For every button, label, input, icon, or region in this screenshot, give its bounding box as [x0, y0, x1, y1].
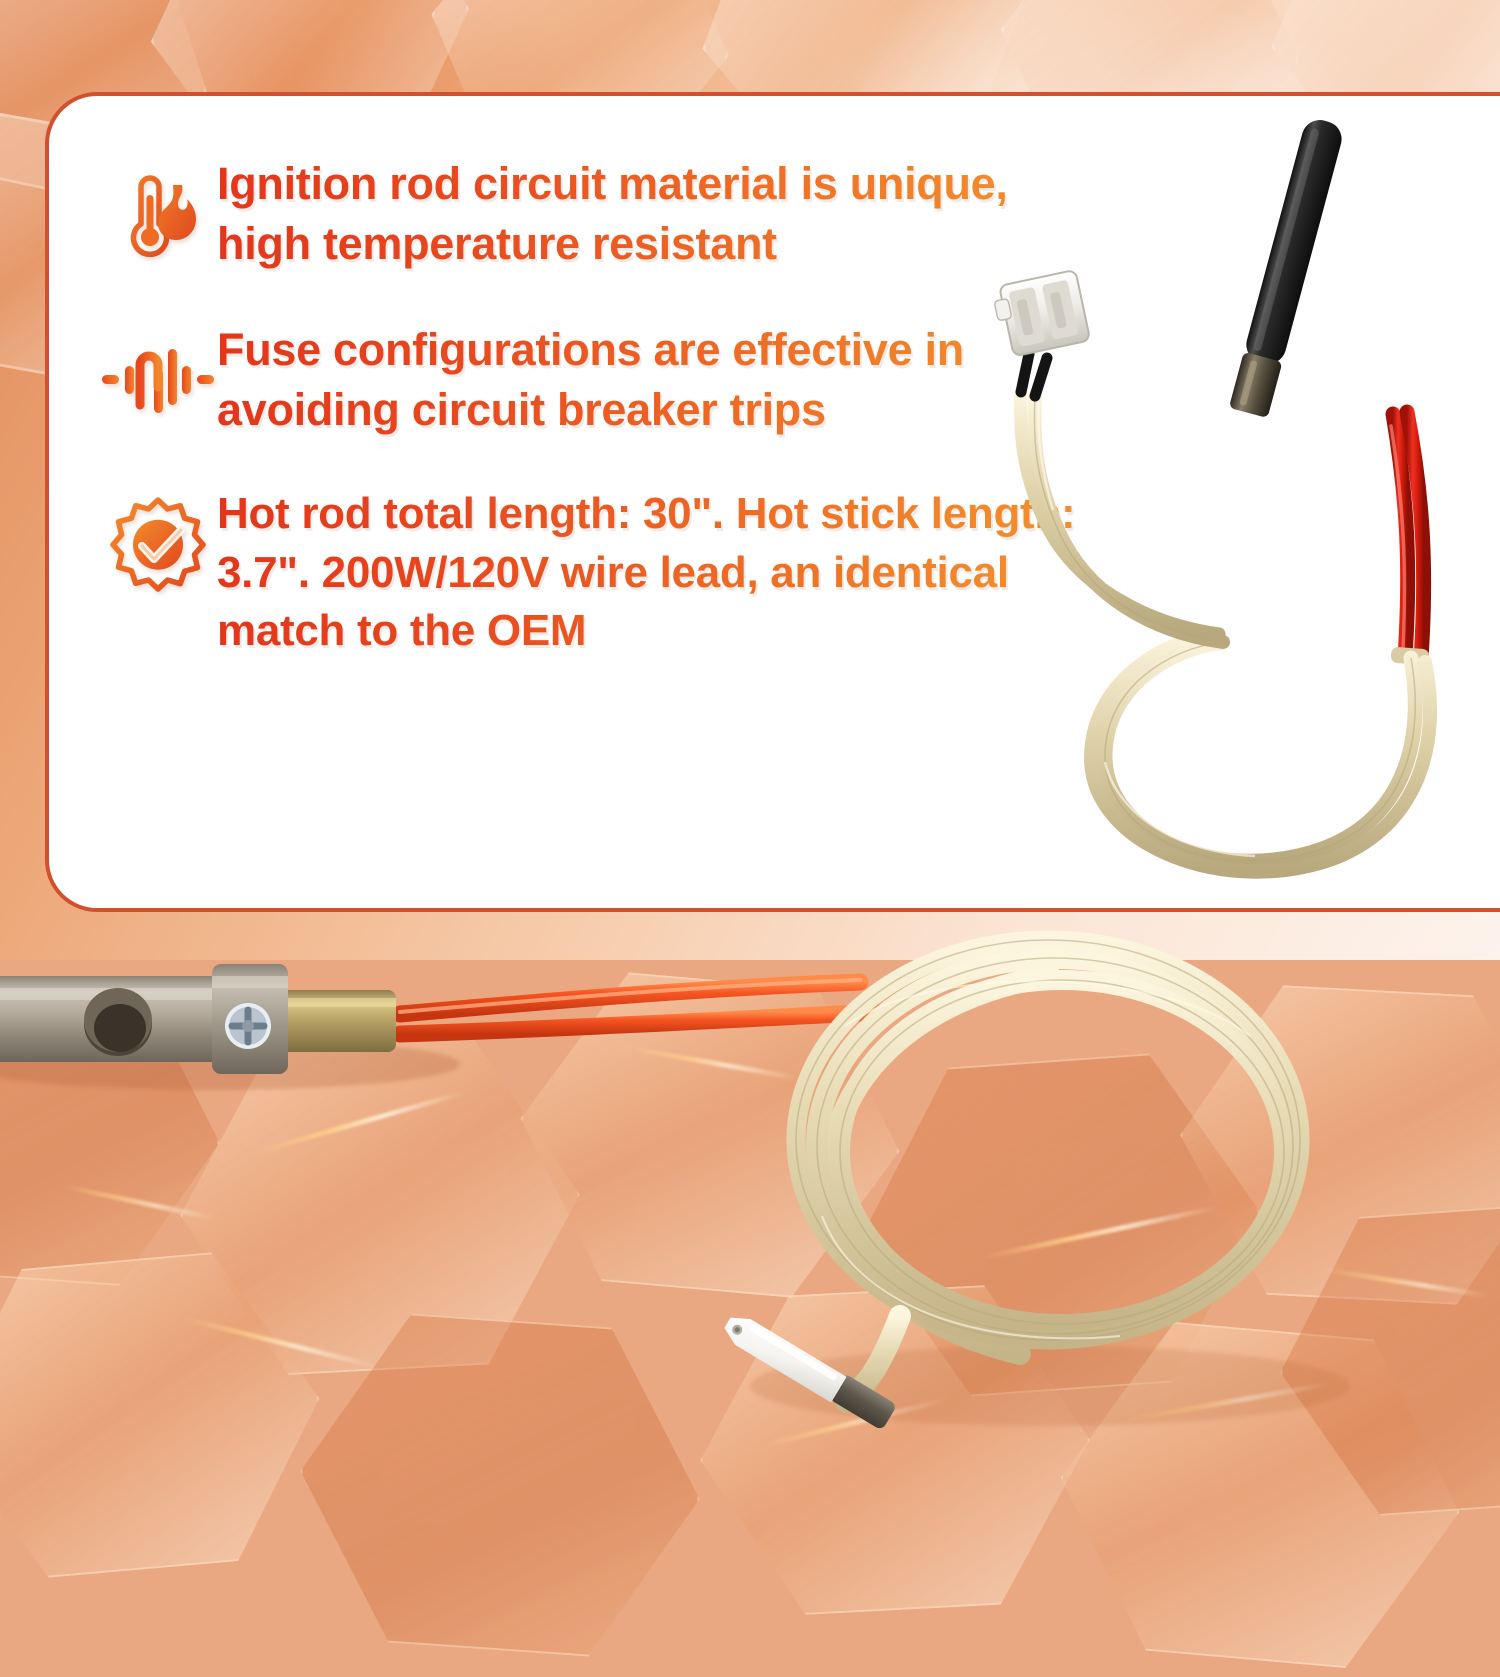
product-photo-top	[955, 96, 1500, 908]
check-badge-icon	[99, 491, 217, 601]
feature-card: Ignition rod circuit material is unique,…	[45, 92, 1500, 912]
thermometer-flame-icon	[99, 160, 217, 270]
ignitor-closeup-svg	[0, 916, 1500, 1500]
ignitor-rod-svg	[955, 96, 1500, 908]
electric-pulse-icon	[99, 326, 217, 436]
product-photo-bottom	[0, 916, 1500, 1500]
